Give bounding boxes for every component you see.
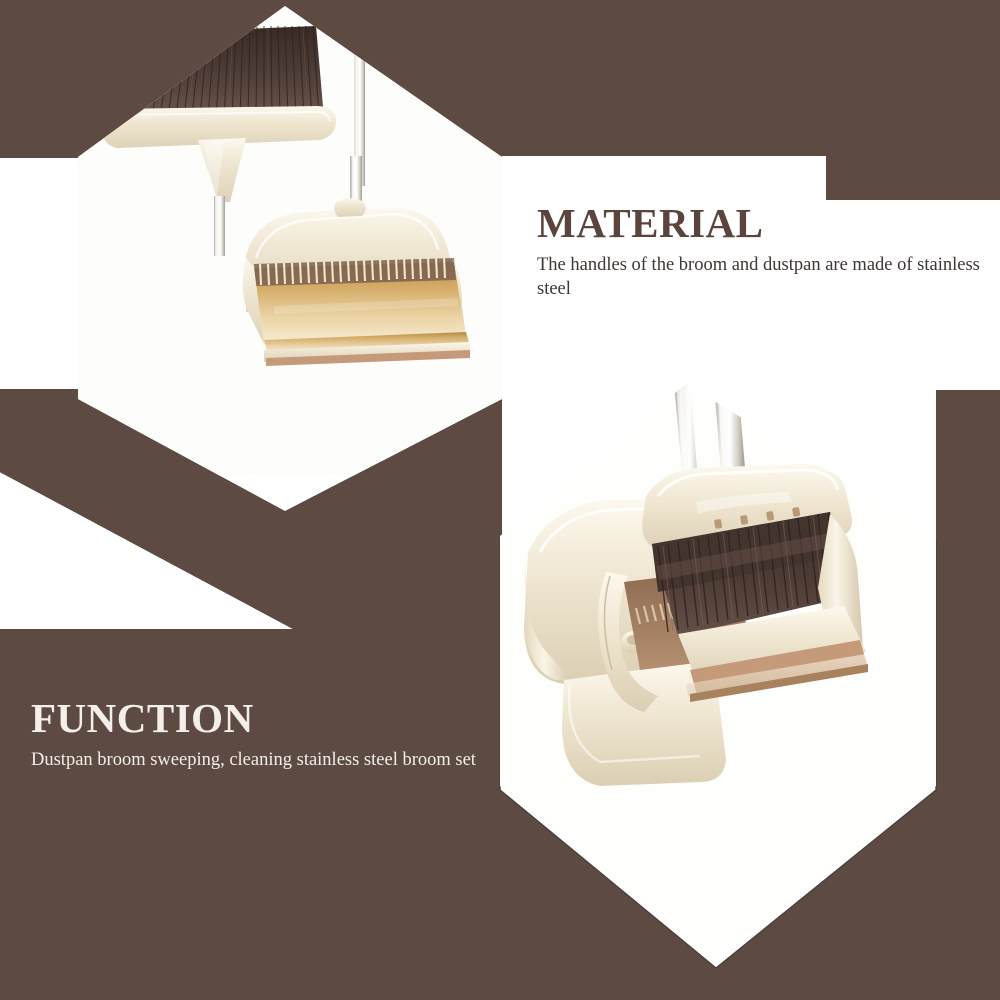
function-section: FUNCTION Dustpan broom sweeping, cleanin… [31, 698, 501, 772]
material-body: The handles of the broom and dustpan are… [537, 253, 987, 302]
product-photo-bottom [500, 384, 936, 970]
product-photo-top [78, 6, 502, 476]
function-title: FUNCTION [31, 698, 501, 739]
material-section: MATERIAL The handles of the broom and du… [537, 203, 987, 302]
material-title: MATERIAL [537, 203, 987, 244]
infographic-canvas: MATERIAL The handles of the broom and du… [0, 0, 1000, 1000]
function-body: Dustpan broom sweeping, cleaning stainle… [31, 748, 501, 772]
